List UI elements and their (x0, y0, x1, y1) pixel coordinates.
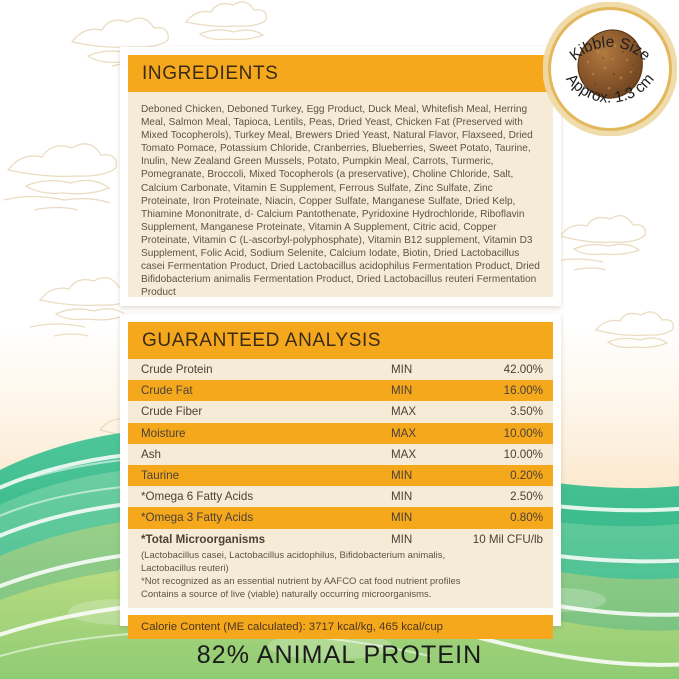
microorganisms-row: *Total Microorganisms MIN 10 Mil CFU/lb (141, 531, 543, 549)
table-row: *Omega 3 Fatty Acids MIN 0.80% (128, 507, 553, 528)
nutrient-name: *Total Microorganisms (141, 533, 391, 546)
nutrient-limit: MIN (391, 490, 469, 503)
ingredients-header-label: INGREDIENTS (142, 63, 278, 85)
microorganisms-strains-line-1: (Lactobacillus casei, Lactobacillus acid… (141, 550, 543, 562)
microorganisms-strains-line-2: Lactobacillus reuteri) (141, 563, 543, 575)
table-row: Crude Protein MIN 42.00% (128, 359, 553, 380)
guaranteed-analysis-header-bar: GUARANTEED ANALYSIS (128, 322, 553, 359)
ingredients-header-bar: INGREDIENTS (128, 55, 553, 92)
nutrient-value: 16.00% (469, 384, 543, 397)
nutrient-value: 2.50% (469, 490, 543, 503)
table-row: Crude Fat MIN 16.00% (128, 380, 553, 401)
animal-protein-banner: 82% ANIMAL PROTEIN (0, 632, 679, 679)
nutrient-name: Moisture (141, 427, 391, 440)
ingredients-text: Deboned Chicken, Deboned Turkey, Egg Pro… (141, 103, 540, 299)
nutrient-value: 0.20% (469, 469, 543, 482)
table-row: Crude Fiber MAX 3.50% (128, 401, 553, 422)
live-microorganisms-footnote: Contains a source of live (viable) natur… (141, 589, 543, 601)
nutrient-limit: MIN (391, 533, 469, 546)
nutrient-limit: MIN (391, 469, 469, 482)
aafco-footnote: *Not recognized as an essential nutrient… (141, 576, 543, 588)
table-row: Moisture MAX 10.00% (128, 423, 553, 444)
nutrient-value: 3.50% (469, 405, 543, 418)
microorganisms-block: *Total Microorganisms MIN 10 Mil CFU/lb … (128, 529, 553, 609)
nutrient-limit: MIN (391, 363, 469, 376)
nutrient-name: Crude Fiber (141, 405, 391, 418)
animal-protein-text: 82% ANIMAL PROTEIN (197, 641, 483, 670)
nutrient-limit: MAX (391, 427, 469, 440)
nutrient-name: Taurine (141, 469, 391, 482)
nutrient-value: 0.80% (469, 511, 543, 524)
nutrient-name: *Omega 6 Fatty Acids (141, 490, 391, 503)
nutrient-value: 10.00% (469, 427, 543, 440)
guaranteed-analysis-panel: GUARANTEED ANALYSIS Crude Protein MIN 42… (120, 314, 561, 626)
ingredients-panel: INGREDIENTS Deboned Chicken, Deboned Tur… (120, 47, 561, 306)
nutrient-limit: MAX (391, 448, 469, 461)
guaranteed-analysis-table: Crude Protein MIN 42.00% Crude Fat MIN 1… (128, 359, 553, 529)
table-row: *Omega 6 Fatty Acids MIN 2.50% (128, 486, 553, 507)
nutrient-value: 10 Mil CFU/lb (469, 533, 543, 546)
nutrient-limit: MAX (391, 405, 469, 418)
table-row: Taurine MIN 0.20% (128, 465, 553, 486)
kibble-size-badge: Kibble Size Approx. 1.3 cm (543, 2, 677, 136)
nutrient-name: Crude Fat (141, 384, 391, 397)
nutrient-limit: MIN (391, 511, 469, 524)
nutrient-name: Ash (141, 448, 391, 461)
nutrient-value: 10.00% (469, 448, 543, 461)
guaranteed-analysis-header-label: GUARANTEED ANALYSIS (142, 330, 381, 352)
table-row: Ash MAX 10.00% (128, 444, 553, 465)
nutrient-limit: MIN (391, 384, 469, 397)
label-screenshot: INGREDIENTS Deboned Chicken, Deboned Tur… (0, 0, 679, 679)
nutrient-name: *Omega 3 Fatty Acids (141, 511, 391, 524)
nutrient-name: Crude Protein (141, 363, 391, 376)
ingredients-body: Deboned Chicken, Deboned Turkey, Egg Pro… (128, 92, 553, 297)
nutrient-value: 42.00% (469, 363, 543, 376)
